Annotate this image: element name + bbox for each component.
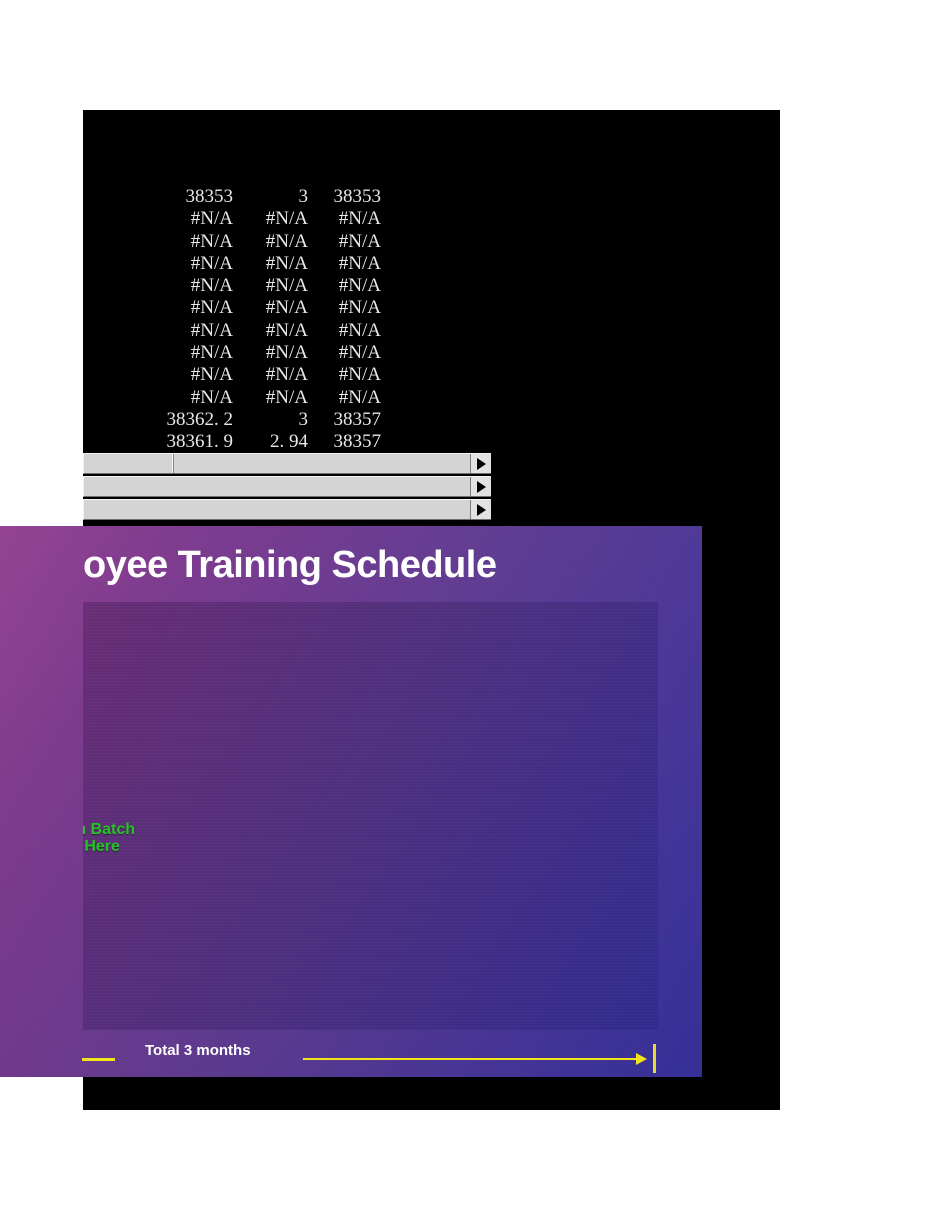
timeline-end-tick [653, 1044, 656, 1073]
timeline-left-dash [82, 1058, 115, 1061]
timeline-overlay: Total 3 months [0, 0, 950, 1230]
timeline-total-label: Total 3 months [145, 1042, 251, 1059]
timeline-arrow-head-icon [636, 1053, 647, 1065]
timeline-arrow-line [303, 1058, 639, 1060]
